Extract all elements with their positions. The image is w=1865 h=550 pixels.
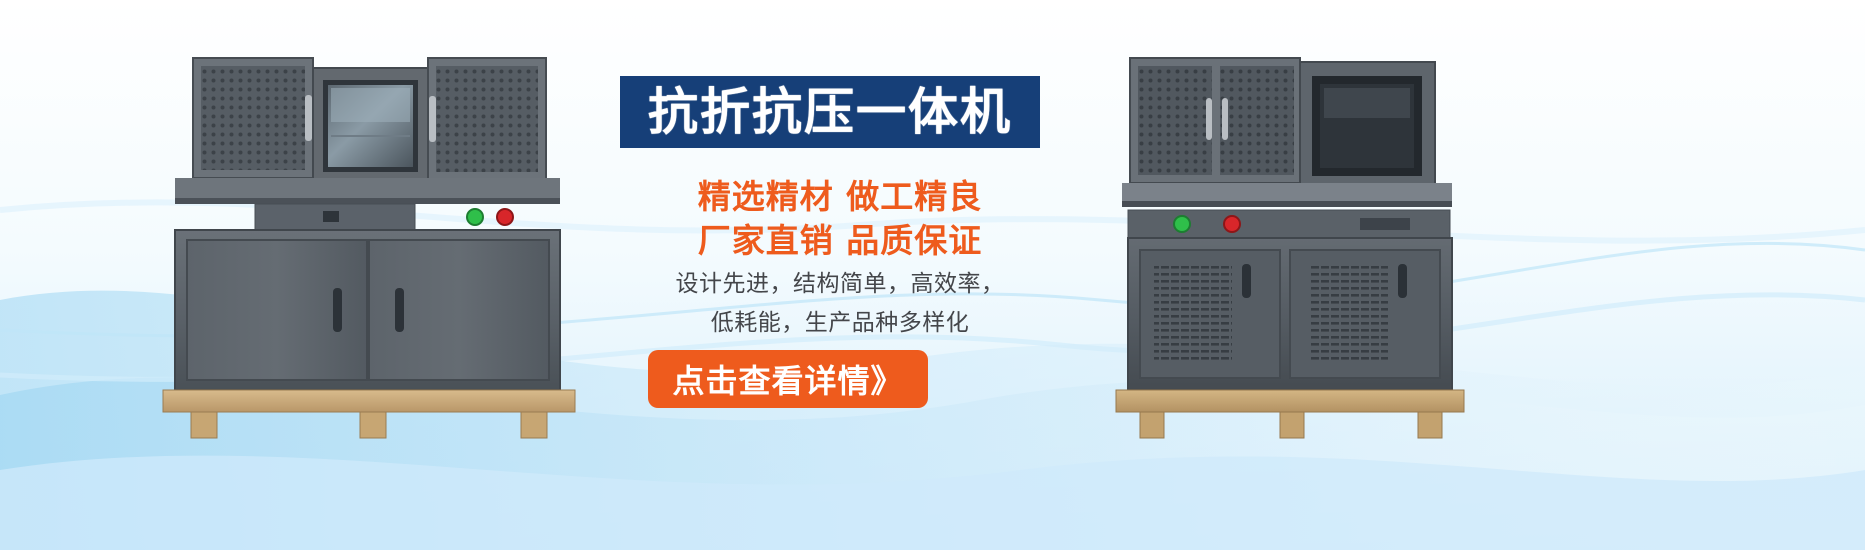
- tagline-secondary: 厂家直销 品质保证: [620, 214, 1060, 262]
- description-line-2: 低耗能，生产品种多样化: [620, 303, 1060, 337]
- page-title: 抗折抗压一体机: [648, 87, 1012, 137]
- description-line-1: 设计先进，结构简单，高效率，: [620, 264, 1060, 298]
- banner-title-bar: 抗折抗压一体机: [620, 76, 1040, 148]
- promo-banner: 抗折抗压一体机 精选精材 做工精良 厂家直销 品质保证 设计先进，结构简单，高效…: [0, 0, 1865, 550]
- tagline-primary: 精选精材 做工精良: [620, 170, 1060, 218]
- product-photo-right: [1110, 40, 1500, 440]
- banner-text-column: 抗折抗压一体机 精选精材 做工精良 厂家直销 品质保证 设计先进，结构简单，高效…: [620, 60, 1060, 490]
- product-photo-left: [155, 40, 585, 440]
- view-details-button[interactable]: 点击查看详情》: [648, 350, 928, 408]
